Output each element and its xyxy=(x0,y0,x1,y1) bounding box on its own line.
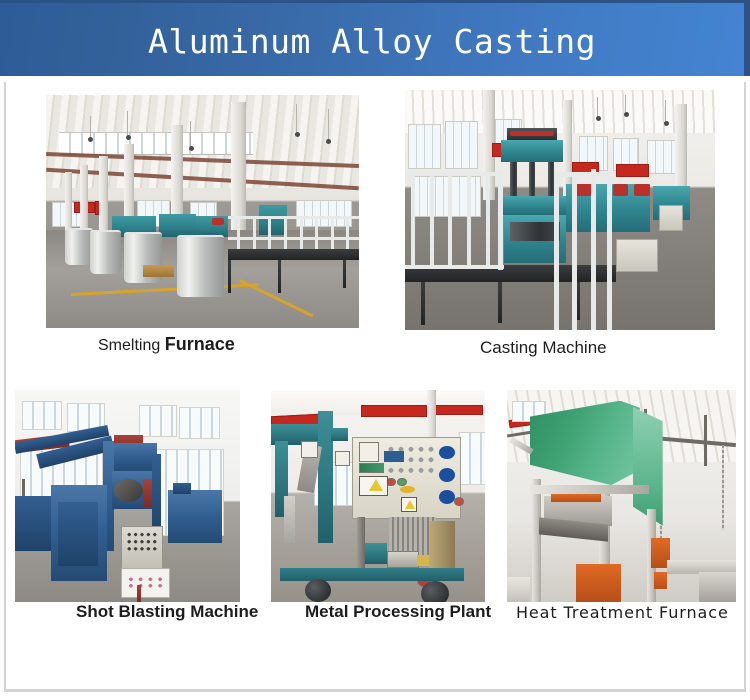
photo-heat-treatment-furnace xyxy=(507,390,736,602)
railing-post xyxy=(300,216,303,249)
page-title: Aluminum Alloy Casting xyxy=(0,22,744,61)
furnace-support-post xyxy=(532,479,541,602)
hall-column xyxy=(65,172,72,230)
auxiliary-unit xyxy=(168,490,222,543)
photo-factory-hall xyxy=(46,95,359,328)
flex-hose xyxy=(357,517,366,568)
platform-leg xyxy=(343,260,346,288)
auxiliary-top xyxy=(173,483,191,494)
lamp-wire xyxy=(328,109,329,139)
press-die-area xyxy=(510,222,560,241)
orange-equipment xyxy=(576,564,622,602)
cabinet-logo-label xyxy=(359,442,379,462)
ceiling-lamp-icon xyxy=(624,112,629,117)
hall-column xyxy=(563,100,572,196)
ceiling-lamp-icon xyxy=(189,146,194,151)
stair-railing-post xyxy=(591,169,596,330)
side-stop-button xyxy=(454,497,465,506)
gallery-item-heat-treatment-furnace[interactable]: Heat Treatment Furnace xyxy=(507,390,736,602)
teal-machine xyxy=(259,205,287,235)
blast-red-part xyxy=(143,479,152,507)
lamp-wire xyxy=(665,100,666,122)
gallery-item-smelting-furnace[interactable]: Smelting Furnace xyxy=(46,95,359,328)
stair-railing-post xyxy=(572,176,577,330)
photo-casting-machine xyxy=(405,90,715,330)
railing-post xyxy=(448,172,452,268)
pump-motor xyxy=(365,543,386,564)
railing-post xyxy=(467,172,471,268)
smelting-furnace-pot xyxy=(90,230,121,274)
lamp-wire xyxy=(90,116,91,137)
press-head xyxy=(501,140,563,162)
warning-label xyxy=(301,441,318,458)
press-red-part xyxy=(613,184,629,196)
sign-post xyxy=(137,585,142,602)
railing-post xyxy=(331,216,334,249)
photo-metal-processing-plant xyxy=(271,390,485,602)
warning-sign-small xyxy=(401,497,417,512)
press-red-part xyxy=(634,184,650,196)
wall-window xyxy=(179,407,219,439)
mandatory-sign-icon xyxy=(439,468,455,482)
teal-machine xyxy=(159,214,197,237)
railing-post xyxy=(430,172,434,268)
smelting-furnace-pot xyxy=(65,228,93,265)
gallery-content-frame: Smelting Furnace xyxy=(4,82,746,692)
platform-leg xyxy=(228,260,231,293)
stair-railing-post xyxy=(607,174,612,330)
lamp-wire xyxy=(625,95,626,112)
control-cabinet xyxy=(616,239,658,272)
lamp-wire xyxy=(127,111,128,134)
brass-fitting xyxy=(417,555,430,566)
control-panel xyxy=(121,526,164,575)
orange-equipment xyxy=(654,572,668,589)
mandatory-sign-icon xyxy=(439,490,455,504)
machine-head xyxy=(331,428,348,441)
roof-post xyxy=(704,415,707,466)
platform-leg xyxy=(498,282,502,323)
railing-post xyxy=(411,172,415,268)
platform-leg xyxy=(278,260,281,293)
railing-post xyxy=(284,216,287,249)
wooden-pallet xyxy=(143,265,174,277)
machine-red-part xyxy=(212,218,225,225)
railing-post xyxy=(253,216,256,249)
wall-window xyxy=(459,432,485,485)
gallery-item-shot-blasting-machine[interactable]: Shot Blasting Machine xyxy=(15,390,240,602)
control-buttons xyxy=(126,531,158,552)
wall-window xyxy=(408,124,441,169)
warning-sign-large xyxy=(359,476,389,496)
platform-railing xyxy=(228,216,359,219)
red-banner-sign xyxy=(434,405,483,415)
wall-window xyxy=(139,405,177,437)
clerestory-window-band xyxy=(59,132,253,155)
machine-deck xyxy=(280,568,464,581)
ceiling-lamp-icon xyxy=(126,135,131,140)
worker-figure xyxy=(384,451,403,462)
control-cabinet xyxy=(659,205,683,231)
mandatory-sign-icon xyxy=(439,446,455,460)
warning-triangle-icon xyxy=(405,500,415,509)
railing-post xyxy=(486,172,490,268)
warning-triangle-icon xyxy=(369,479,383,491)
wall-window xyxy=(22,401,62,431)
page-banner: Aluminum Alloy Casting xyxy=(0,0,750,76)
info-sign-marks xyxy=(126,576,166,589)
smelting-furnace-pot xyxy=(177,235,224,298)
press-red-bar xyxy=(510,131,553,136)
railing-post xyxy=(268,216,271,249)
gallery-item-casting-machine[interactable]: Casting Machine xyxy=(405,90,715,330)
hanging-chain xyxy=(722,445,724,530)
railing-post xyxy=(346,216,349,249)
lamp-wire xyxy=(597,97,598,116)
control-cabinet xyxy=(352,437,461,520)
wall-window xyxy=(647,140,677,173)
vertical-rod xyxy=(284,496,295,543)
platform-leg xyxy=(421,282,425,325)
hall-column xyxy=(80,165,88,233)
lamp-wire xyxy=(190,121,191,147)
gallery-item-metal-processing-plant[interactable]: Metal Processing Plant xyxy=(271,390,485,602)
railing-post xyxy=(237,216,240,249)
furnace-cross-beam xyxy=(530,485,649,493)
furnace-hood xyxy=(530,401,640,490)
caster-wheel xyxy=(421,581,449,602)
wall-window xyxy=(296,200,351,228)
indicator-lamp xyxy=(400,486,415,493)
railing-post xyxy=(498,169,503,270)
product-showcase-page: Aluminum Alloy Casting xyxy=(0,0,750,700)
wall-window xyxy=(445,121,478,169)
hall-column xyxy=(99,156,108,233)
caption-heat-treatment-furnace: Heat Treatment Furnace xyxy=(516,603,729,622)
caption-smelting-furnace: Smelting Furnace xyxy=(98,334,235,355)
loading-unit xyxy=(15,496,51,551)
steel-platform xyxy=(228,249,359,261)
background-structure xyxy=(507,577,530,602)
background-structure xyxy=(699,572,736,602)
info-sign xyxy=(121,568,170,598)
railing-post xyxy=(315,216,318,249)
hot-charge-glow xyxy=(551,494,601,502)
warning-label xyxy=(335,451,350,466)
platform-railing xyxy=(228,237,359,240)
blast-machine-hopper xyxy=(107,443,157,471)
caption-metal-processing-plant: Metal Processing Plant xyxy=(305,602,491,622)
display-screen xyxy=(359,463,385,473)
photo-shot-blasting-machine xyxy=(15,390,240,602)
crucible xyxy=(429,521,455,568)
stair-handrail xyxy=(554,172,610,177)
stair-railing-post xyxy=(554,172,559,330)
caster-wheel xyxy=(305,579,331,602)
caption-shot-blasting-machine: Shot Blasting Machine xyxy=(76,602,258,622)
red-banner-sign xyxy=(361,405,427,418)
caption-casting-machine: Casting Machine xyxy=(480,338,607,358)
red-banner-sign xyxy=(616,164,649,177)
blast-cabin-door xyxy=(58,502,99,566)
pump-housing xyxy=(387,551,419,568)
lamp-wire xyxy=(296,104,297,132)
